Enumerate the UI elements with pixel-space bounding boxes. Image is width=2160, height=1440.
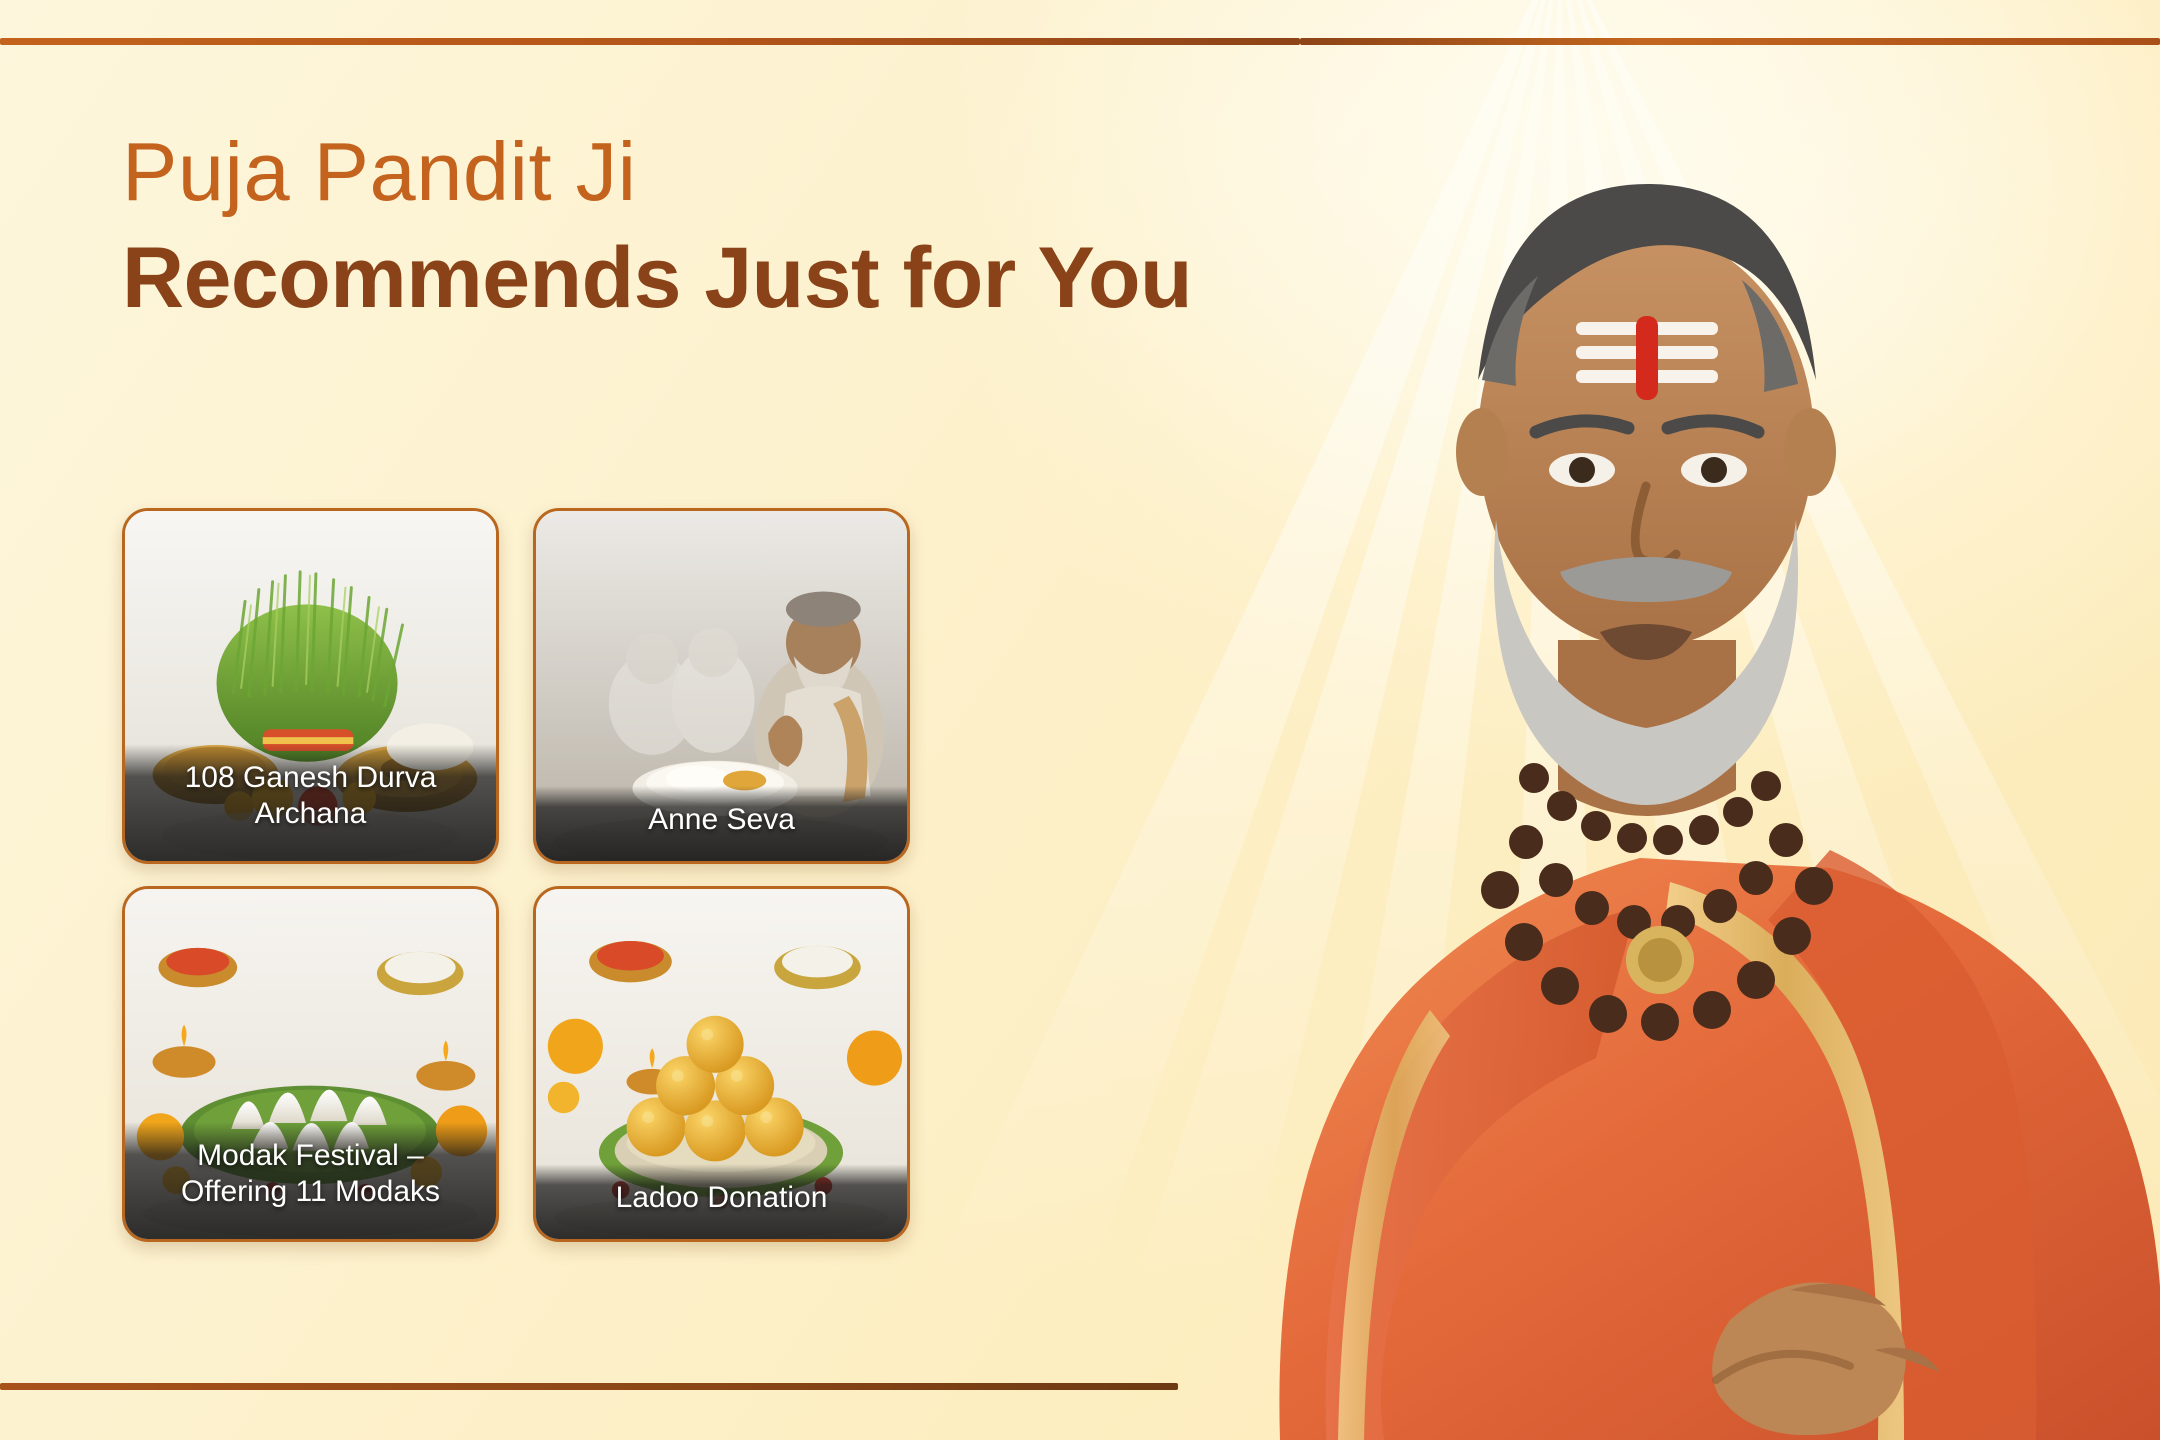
recommendation-card-ladoo-donation[interactable]: Ladoo Donation [533,886,910,1242]
card-label-ladoo-donation: Ladoo Donation [536,1164,907,1239]
recommendation-card-grid: 108 Ganesh Durva Archana [122,508,910,1242]
card-label-ganesh-durva-archana: 108 Ganesh Durva Archana [125,744,496,861]
recommendation-card-ganesh-durva-archana[interactable]: 108 Ganesh Durva Archana [122,508,499,864]
promo-banner: Puja Pandit Ji Recommends Just for You [0,0,2160,1440]
bottom-divider-rule [0,1383,1178,1390]
card-label-modak-festival: Modak Festival – Offering 11 Modaks [125,1122,496,1239]
recommendation-card-modak-festival[interactable]: Modak Festival – Offering 11 Modaks [122,886,499,1242]
card-label-anne-seva: Anne Seva [536,786,907,861]
top-divider-rule [0,38,1300,45]
recommendation-card-anne-seva[interactable]: Anne Seva [533,508,910,864]
pandit-ji-figure [1130,0,2160,1440]
